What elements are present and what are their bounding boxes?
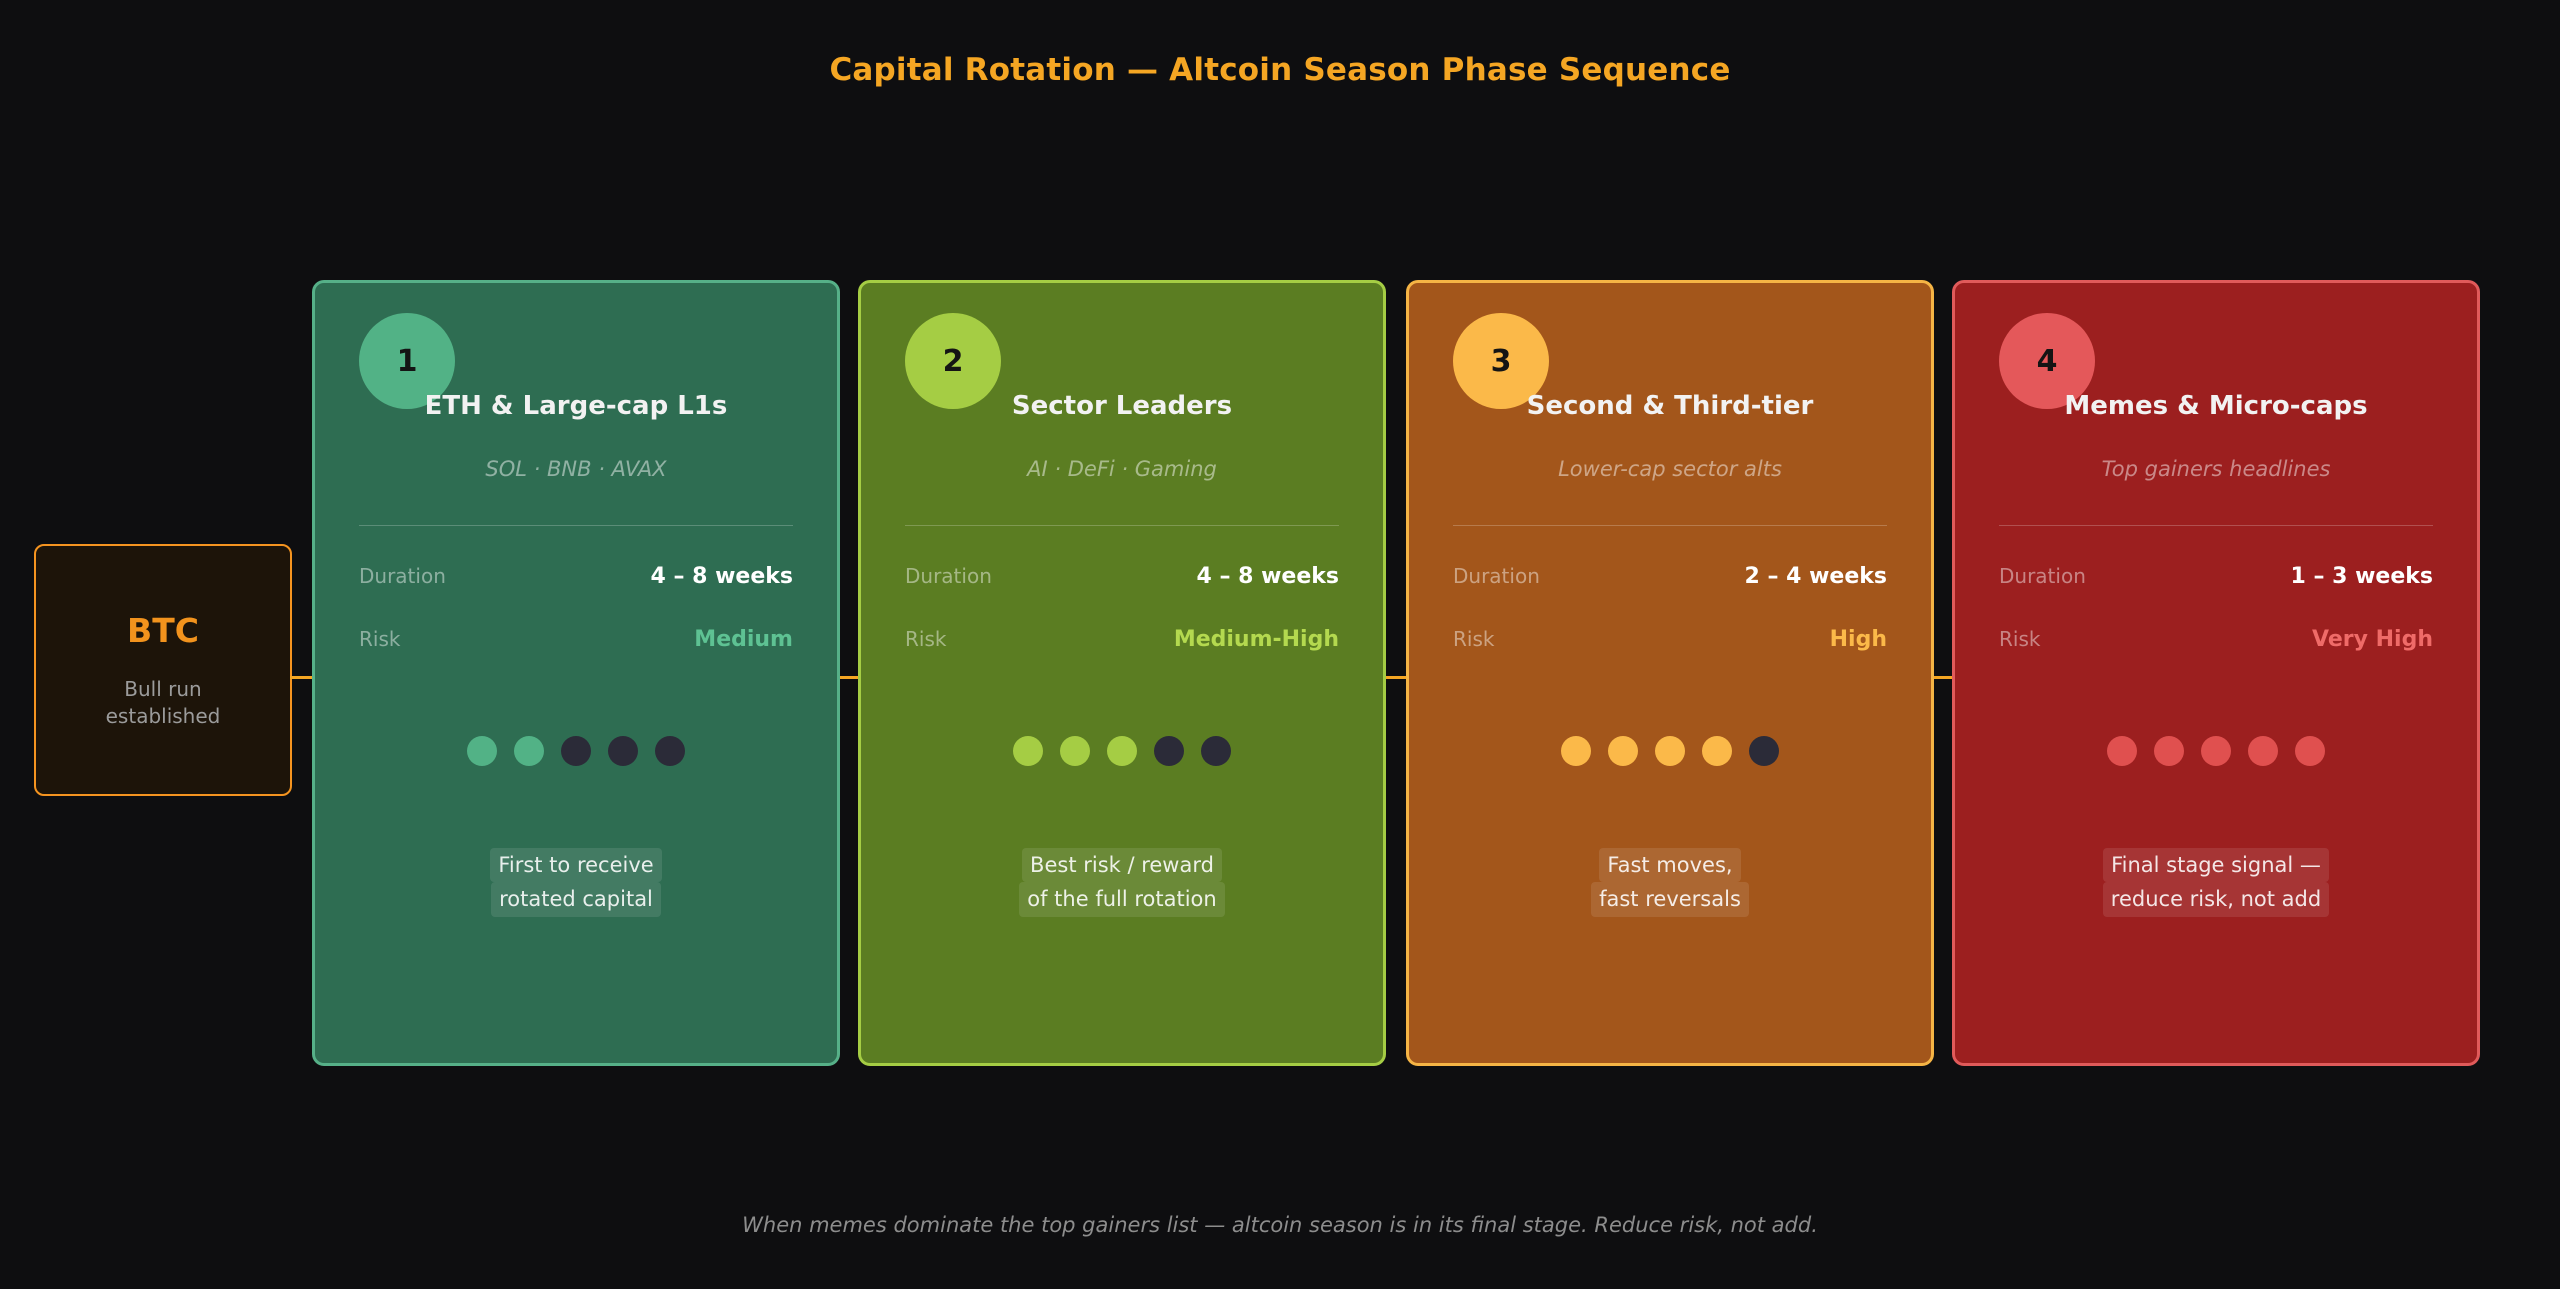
duration-row: Duration 2 – 4 weeks xyxy=(1453,564,1887,589)
duration-label: Duration xyxy=(1999,564,2086,588)
phase-card-header: 4 Memes & Micro-caps xyxy=(1999,313,2433,433)
phase-note: Final stage signal — reduce risk, not ad… xyxy=(1999,848,2433,917)
duration-row: Duration 4 – 8 weeks xyxy=(359,564,793,589)
btc-label: BTC xyxy=(127,611,199,650)
phase-note-line1: Final stage signal — xyxy=(2103,848,2329,882)
divider xyxy=(1999,525,2433,526)
phase-title: Second & Third-tier xyxy=(1453,391,1887,421)
phase-subtitle: Lower-cap sector alts xyxy=(1453,457,1887,481)
risk-label: Risk xyxy=(905,627,946,651)
phase-card-header: 1 ETH & Large-cap L1s xyxy=(359,313,793,433)
phase-title: Sector Leaders xyxy=(905,391,1339,421)
intensity-dot xyxy=(2154,736,2184,766)
phase-title: Memes & Micro-caps xyxy=(1999,391,2433,421)
intensity-dot xyxy=(1561,736,1591,766)
intensity-dot xyxy=(514,736,544,766)
duration-label: Duration xyxy=(1453,564,1540,588)
phase-note-line2: rotated capital xyxy=(491,882,661,916)
phase-card-header: 3 Second & Third-tier xyxy=(1453,313,1887,433)
intensity-dot xyxy=(2295,736,2325,766)
intensity-dot xyxy=(2107,736,2137,766)
phase-card-1[interactable]: 1 ETH & Large-cap L1s SOL · BNB · AVAX D… xyxy=(312,280,840,1066)
phase-card-header: 2 Sector Leaders xyxy=(905,313,1339,433)
risk-value: Very High xyxy=(2312,627,2433,652)
intensity-dot xyxy=(1107,736,1137,766)
divider xyxy=(1453,525,1887,526)
intensity-dot xyxy=(1702,736,1732,766)
phase-title: ETH & Large-cap L1s xyxy=(359,391,793,421)
risk-row: Risk High xyxy=(1453,627,1887,652)
footer-caption: When memes dominate the top gainers list… xyxy=(0,1213,2560,1237)
phase-subtitle: Top gainers headlines xyxy=(1999,457,2433,481)
phase-note-line1: Fast moves, xyxy=(1599,848,1740,882)
duration-value: 4 – 8 weeks xyxy=(651,564,793,589)
intensity-dots xyxy=(359,736,793,766)
intensity-dot xyxy=(2201,736,2231,766)
btc-subtitle-line1: Bull run xyxy=(106,676,221,703)
duration-row: Duration 1 – 3 weeks xyxy=(1999,564,2433,589)
diagram-canvas: Capital Rotation — Altcoin Season Phase … xyxy=(0,0,2560,1289)
phase-note-line2: reduce risk, not add xyxy=(2103,882,2329,916)
btc-subtitle-line2: established xyxy=(106,703,221,730)
intensity-dot xyxy=(1201,736,1231,766)
risk-value: High xyxy=(1830,627,1887,652)
btc-subtitle: Bull run established xyxy=(106,676,221,730)
phase-note-line2: of the full rotation xyxy=(1019,882,1224,916)
risk-label: Risk xyxy=(1999,627,2040,651)
intensity-dot xyxy=(1060,736,1090,766)
risk-value: Medium xyxy=(694,627,793,652)
duration-label: Duration xyxy=(359,564,446,588)
intensity-dot xyxy=(608,736,638,766)
intensity-dot xyxy=(655,736,685,766)
risk-value: Medium-High xyxy=(1174,627,1339,652)
duration-row: Duration 4 – 8 weeks xyxy=(905,564,1339,589)
phase-note-line2: fast reversals xyxy=(1591,882,1749,916)
phase-subtitle: SOL · BNB · AVAX xyxy=(359,457,793,481)
page-title: Capital Rotation — Altcoin Season Phase … xyxy=(0,52,2560,88)
intensity-dot xyxy=(2248,736,2278,766)
intensity-dot xyxy=(561,736,591,766)
intensity-dots xyxy=(905,736,1339,766)
phase-note-line1: Best risk / reward xyxy=(1022,848,1222,882)
risk-row: Risk Very High xyxy=(1999,627,2433,652)
phase-card-3[interactable]: 3 Second & Third-tier Lower-cap sector a… xyxy=(1406,280,1934,1066)
intensity-dots xyxy=(1999,736,2433,766)
btc-source-node[interactable]: BTC Bull run established xyxy=(34,544,292,796)
risk-row: Risk Medium-High xyxy=(905,627,1339,652)
duration-value: 1 – 3 weeks xyxy=(2291,564,2433,589)
intensity-dots xyxy=(1453,736,1887,766)
duration-value: 2 – 4 weeks xyxy=(1745,564,1887,589)
divider xyxy=(359,525,793,526)
duration-label: Duration xyxy=(905,564,992,588)
phase-card-2[interactable]: 2 Sector Leaders AI · DeFi · Gaming Dura… xyxy=(858,280,1386,1066)
phase-card-4[interactable]: 4 Memes & Micro-caps Top gainers headlin… xyxy=(1952,280,2480,1066)
divider xyxy=(905,525,1339,526)
duration-value: 4 – 8 weeks xyxy=(1197,564,1339,589)
intensity-dot xyxy=(1608,736,1638,766)
intensity-dot xyxy=(1749,736,1779,766)
phase-note-line1: First to receive xyxy=(490,848,661,882)
intensity-dot xyxy=(1655,736,1685,766)
phase-note: First to receive rotated capital xyxy=(359,848,793,917)
risk-label: Risk xyxy=(1453,627,1494,651)
intensity-dot xyxy=(1154,736,1184,766)
intensity-dot xyxy=(1013,736,1043,766)
phase-note: Best risk / reward of the full rotation xyxy=(905,848,1339,917)
risk-label: Risk xyxy=(359,627,400,651)
phase-note: Fast moves, fast reversals xyxy=(1453,848,1887,917)
intensity-dot xyxy=(467,736,497,766)
risk-row: Risk Medium xyxy=(359,627,793,652)
phase-subtitle: AI · DeFi · Gaming xyxy=(905,457,1339,481)
